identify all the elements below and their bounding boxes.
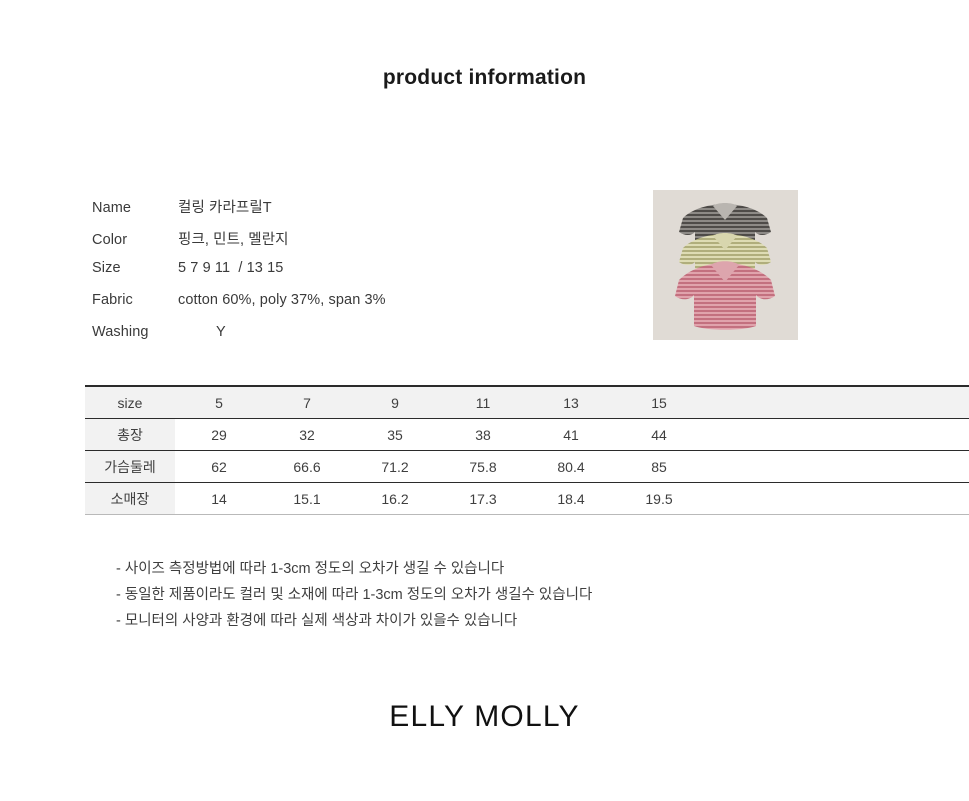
brand-logo-text: ELLY MOLLY [0,700,969,734]
size-table-row-label: 총장 [85,419,175,451]
size-table-cell [703,451,969,483]
info-value-washing: Y [178,324,226,340]
note-line: - 모니터의 사양과 환경에 따라 실제 색상과 차이가 있을수 있습니다 [116,608,896,634]
info-label-name: Name [92,200,178,216]
info-value-name: 컬링 카라프릴T [178,196,272,217]
size-table-header-cell: 13 [527,386,615,419]
size-table-cell [703,483,969,515]
size-table-container: size 5 7 9 11 13 15 총장 29 32 35 38 41 44 [85,385,885,515]
disclaimer-notes: - 사이즈 측정방법에 따라 1-3cm 정도의 오차가 생길 수 있습니다 -… [116,556,896,634]
size-table-cell [703,419,969,451]
info-value-fabric: cotton 60%, poly 37%, span 3% [178,292,386,308]
size-table-cell: 44 [615,419,703,451]
info-value-color: 핑크, 민트, 멜란지 [178,228,289,249]
info-label-washing: Washing [92,324,178,340]
table-row: 소매장 14 15.1 16.2 17.3 18.4 19.5 [85,483,969,515]
size-table-cell: 18.4 [527,483,615,515]
size-table-cell: 35 [351,419,439,451]
size-table-cell: 71.2 [351,451,439,483]
size-table-cell: 19.5 [615,483,703,515]
size-table-row-label: 가슴둘레 [85,451,175,483]
info-row-size: Size 5 7 9 11 / 13 15 [92,260,522,292]
note-line: - 사이즈 측정방법에 따라 1-3cm 정도의 오차가 생길 수 있습니다 [116,556,896,582]
size-table-cell: 32 [263,419,351,451]
size-table-header-cell: 9 [351,386,439,419]
info-label-color: Color [92,232,178,248]
size-table-cell: 14 [175,483,263,515]
size-table-cell: 85 [615,451,703,483]
size-table-cell: 16.2 [351,483,439,515]
size-table-cell: 15.1 [263,483,351,515]
size-table-cell: 80.4 [527,451,615,483]
table-row: 가슴둘레 62 66.6 71.2 75.8 80.4 85 [85,451,969,483]
size-table-header-cell [703,386,969,419]
note-line: - 동일한 제품이라도 컬러 및 소재에 따라 1-3cm 정도의 오차가 생길… [116,582,896,608]
info-label-fabric: Fabric [92,292,178,308]
size-table-cell: 75.8 [439,451,527,483]
page-title: product information [0,66,969,90]
size-table-header-cell: 11 [439,386,527,419]
size-table-cell: 66.6 [263,451,351,483]
size-table-header-row: size 5 7 9 11 13 15 [85,386,969,419]
size-table-cell: 29 [175,419,263,451]
size-table-cell: 17.3 [439,483,527,515]
info-row-name: Name 컬링 카라프릴T [92,196,522,228]
product-info-list: Name 컬링 카라프릴T Color 핑크, 민트, 멜란지 Size 5 7… [92,196,522,356]
product-photo [653,190,798,340]
info-row-washing: Washing Y [92,324,522,356]
size-table-header-cell: size [85,386,175,419]
size-table-cell: 62 [175,451,263,483]
size-table-cell: 38 [439,419,527,451]
info-row-fabric: Fabric cotton 60%, poly 37%, span 3% [92,292,522,324]
size-table-header-cell: 5 [175,386,263,419]
info-value-size: 5 7 9 11 / 13 15 [178,260,283,276]
size-table-cell: 41 [527,419,615,451]
size-table-header-cell: 15 [615,386,703,419]
table-row: 총장 29 32 35 38 41 44 [85,419,969,451]
product-photo-illustration [653,190,798,340]
size-table-header-cell: 7 [263,386,351,419]
size-table-row-label: 소매장 [85,483,175,515]
info-row-color: Color 핑크, 민트, 멜란지 [92,228,522,260]
size-table: size 5 7 9 11 13 15 총장 29 32 35 38 41 44 [85,385,969,515]
info-label-size: Size [92,260,178,276]
